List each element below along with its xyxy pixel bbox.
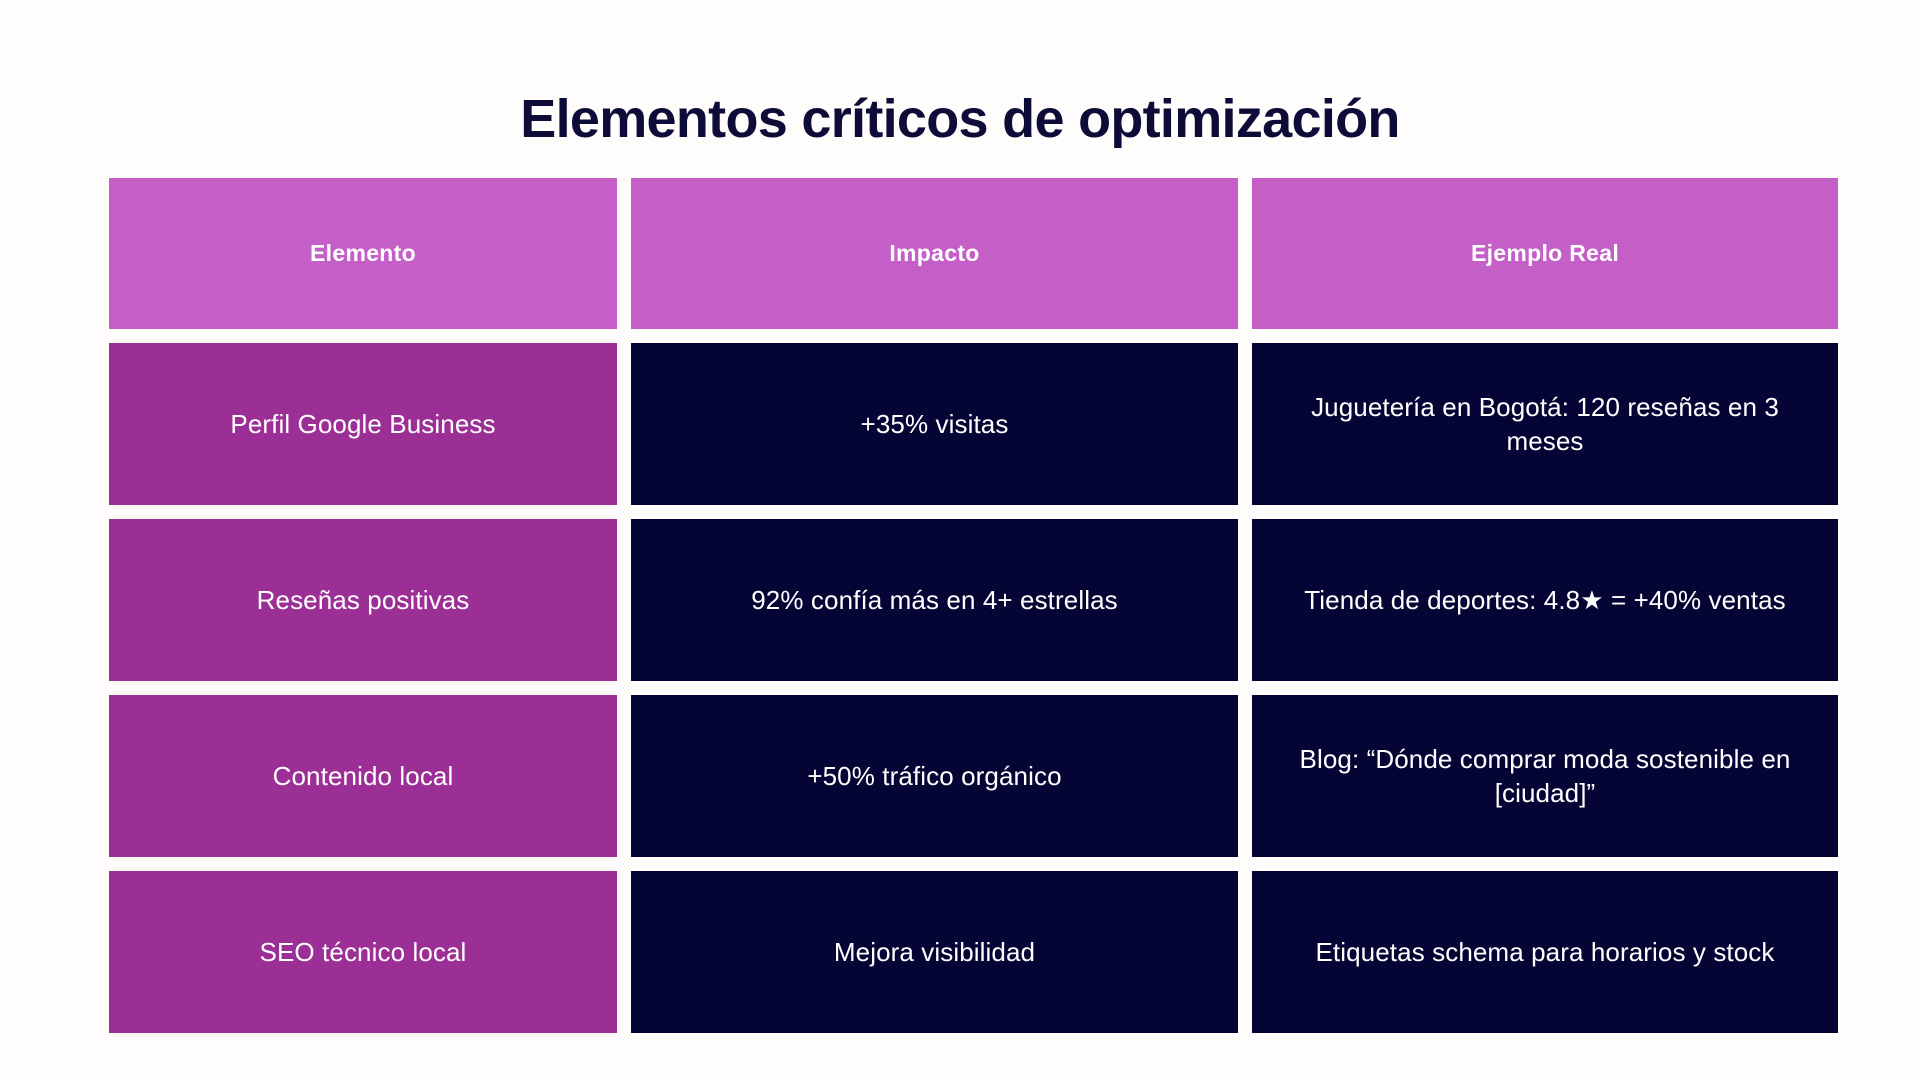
optimization-elements-table: Elemento Impacto Ejemplo Real Perfil Goo… (109, 178, 1838, 1033)
table-header-label: Elemento (310, 238, 416, 268)
cell-text: Tienda de deportes: 4.8★ = +40% ventas (1304, 583, 1785, 617)
page-title: Elementos críticos de optimización (0, 88, 1920, 150)
cell-text: Perfil Google Business (230, 407, 495, 441)
cell-text: Juguetería en Bogotá: 120 reseñas en 3 m… (1270, 390, 1820, 459)
table-header-impacto: Impacto (631, 178, 1238, 329)
table-header-elemento: Elemento (109, 178, 617, 329)
table-cell-elemento: Perfil Google Business (109, 343, 617, 505)
table-row: SEO técnico local Mejora visibilidad Eti… (109, 871, 1838, 1033)
table-cell-impacto: 92% confía más en 4+ estrellas (631, 519, 1238, 681)
cell-text: Etiquetas schema para horarios y stock (1315, 935, 1774, 969)
cell-text: SEO técnico local (260, 935, 467, 969)
table-header-label: Impacto (889, 238, 979, 268)
table-cell-elemento: SEO técnico local (109, 871, 617, 1033)
cell-text: Mejora visibilidad (834, 935, 1035, 969)
table-header-row: Elemento Impacto Ejemplo Real (109, 178, 1838, 329)
cell-text: Blog: “Dónde comprar moda sostenible en … (1270, 742, 1820, 811)
cell-text: 92% confía más en 4+ estrellas (751, 583, 1117, 617)
table-cell-ejemplo: Etiquetas schema para horarios y stock (1252, 871, 1838, 1033)
cell-text: Reseñas positivas (257, 583, 470, 617)
cell-text: +35% visitas (861, 407, 1009, 441)
table-row: Reseñas positivas 92% confía más en 4+ e… (109, 519, 1838, 681)
table-header-label: Ejemplo Real (1471, 238, 1619, 268)
table-cell-impacto: Mejora visibilidad (631, 871, 1238, 1033)
cell-text: Contenido local (273, 759, 454, 793)
table-cell-elemento: Reseñas positivas (109, 519, 617, 681)
slide: Elementos críticos de optimización Eleme… (0, 0, 1920, 1080)
table-cell-impacto: +35% visitas (631, 343, 1238, 505)
table-header-ejemplo-real: Ejemplo Real (1252, 178, 1838, 329)
table-cell-ejemplo: Tienda de deportes: 4.8★ = +40% ventas (1252, 519, 1838, 681)
table-cell-impacto: +50% tráfico orgánico (631, 695, 1238, 857)
table-cell-ejemplo: Blog: “Dónde comprar moda sostenible en … (1252, 695, 1838, 857)
table-row: Contenido local +50% tráfico orgánico Bl… (109, 695, 1838, 857)
table-cell-ejemplo: Juguetería en Bogotá: 120 reseñas en 3 m… (1252, 343, 1838, 505)
table-row: Perfil Google Business +35% visitas Jugu… (109, 343, 1838, 505)
table-cell-elemento: Contenido local (109, 695, 617, 857)
cell-text: +50% tráfico orgánico (807, 759, 1061, 793)
